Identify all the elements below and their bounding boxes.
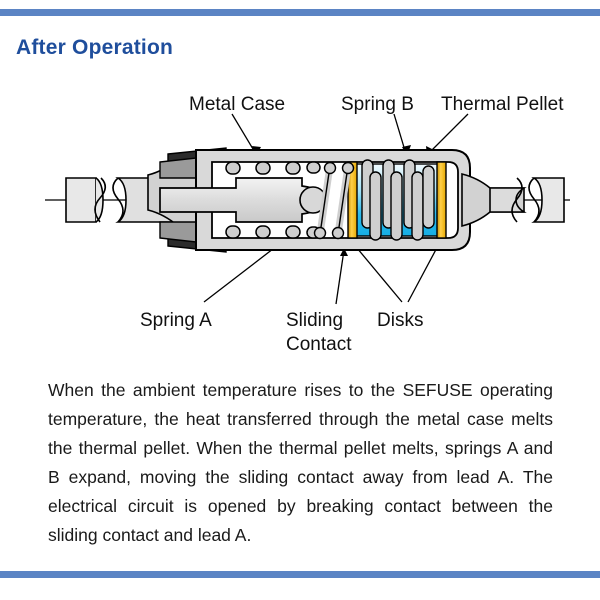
- bottom-accent-bar: [0, 571, 600, 578]
- figure-container: Metal Case Spring B Thermal Pellet Sprin…: [0, 78, 600, 363]
- label-sliding-contact-line1: Sliding: [286, 310, 343, 331]
- slide-canvas: After Operation: [0, 0, 600, 600]
- label-metal-case: Metal Case: [189, 94, 285, 115]
- disk-right: [437, 162, 446, 238]
- page-title: After Operation: [16, 36, 173, 60]
- description-text: When the ambient temperature rises to th…: [48, 376, 553, 550]
- label-sliding-contact-line2: Contact: [286, 334, 352, 355]
- spring-b: [362, 160, 434, 240]
- thermal-cutoff-diagram: Metal Case Spring B Thermal Pellet Sprin…: [0, 78, 600, 363]
- label-spring-b: Spring B: [341, 94, 414, 115]
- label-disks: Disks: [377, 310, 423, 331]
- top-accent-bar: [0, 9, 600, 16]
- description-paragraph: When the ambient temperature rises to th…: [48, 376, 553, 550]
- label-spring-a: Spring A: [140, 310, 212, 331]
- label-thermal-pellet: Thermal Pellet: [441, 94, 564, 115]
- right-lead-assembly: [462, 174, 564, 226]
